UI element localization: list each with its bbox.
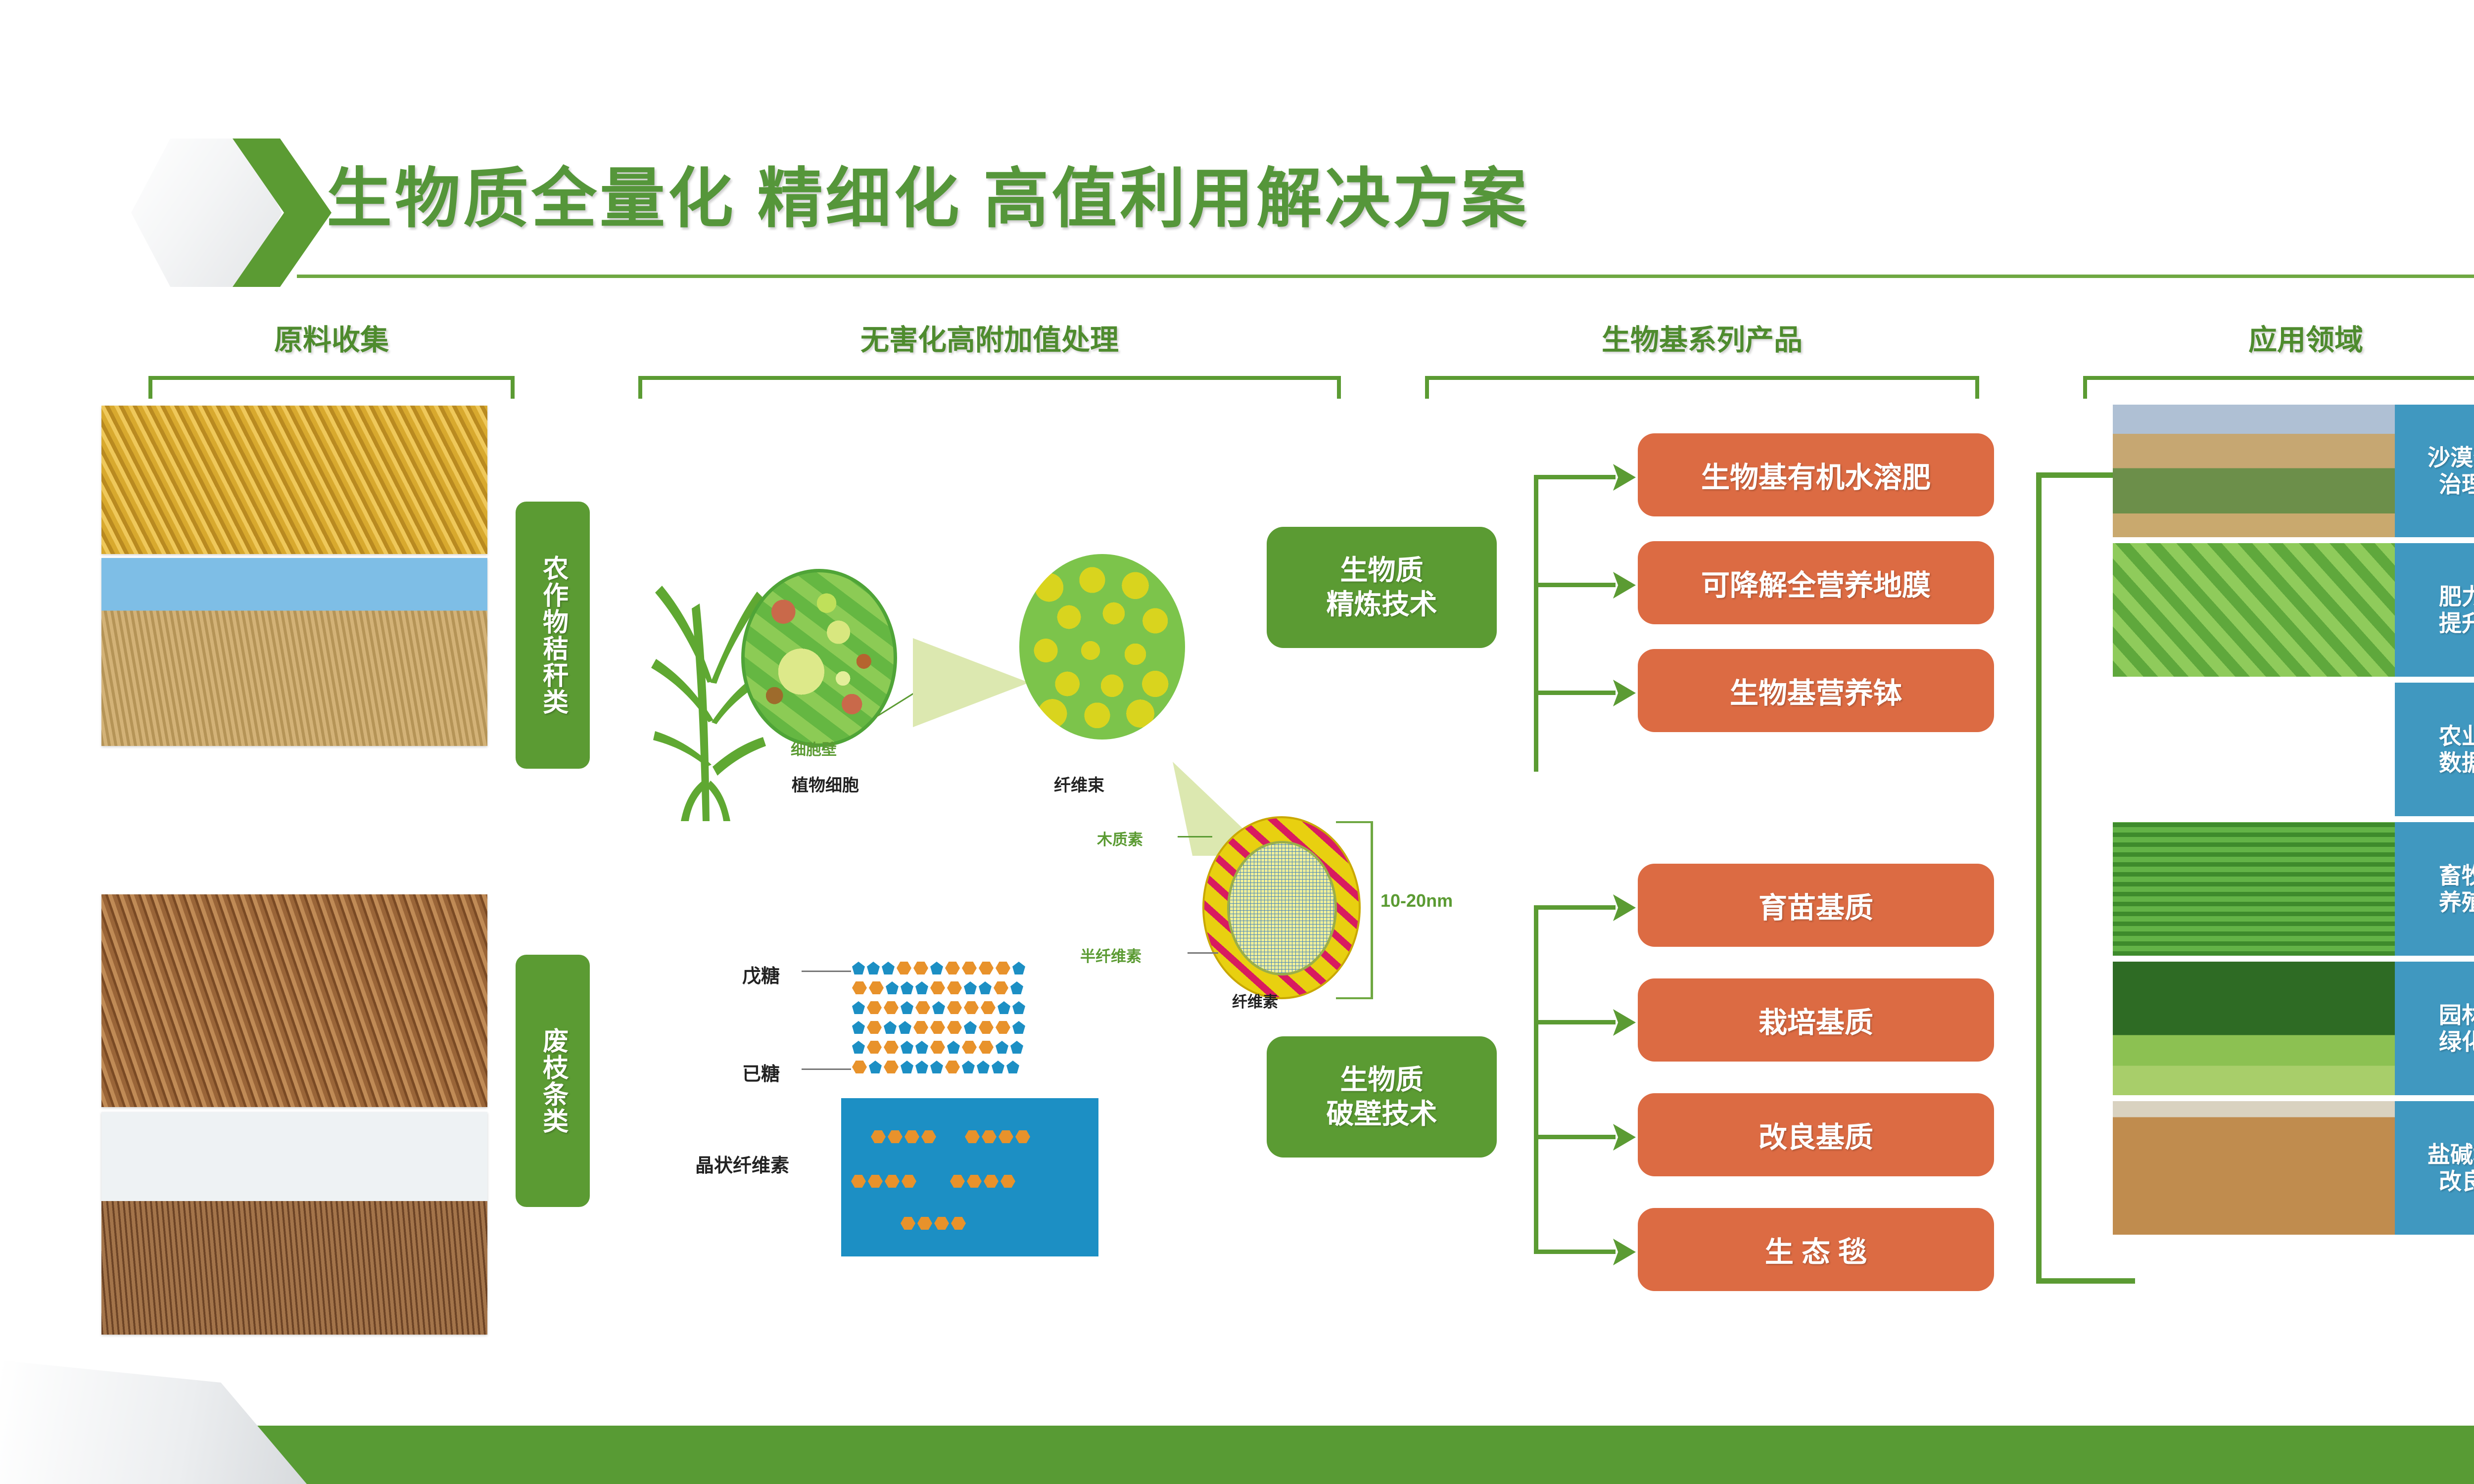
application-row-saline-alkali[interactable]: 盐碱地 改良 (2113, 1101, 2474, 1235)
dimension-tick-top (1336, 821, 1373, 823)
connector-refining-branch-1 (1534, 475, 1616, 479)
label-cell-wall: 细胞壁 (791, 737, 837, 759)
footer-bar (0, 1426, 2474, 1484)
app-label-line1: 沙漠化 (2427, 444, 2474, 471)
photo-baled-straw (101, 558, 487, 746)
plant-cell-illustration (741, 569, 897, 747)
photo-data-control-room (2113, 683, 2395, 816)
application-row-fertility[interactable]: 肥力 提升 (2113, 543, 2474, 677)
label-hexose: 已糖 (742, 1059, 780, 1086)
zoom-cone-2-icon (913, 638, 1029, 727)
connector-cellbreak-branch-1 (1534, 905, 1616, 910)
product-box-improvement-substrate[interactable]: 改良基质 (1638, 1093, 1994, 1176)
dimension-line-vertical (1371, 821, 1373, 999)
tech-box-cellbreak[interactable]: 生物质 破壁技术 (1267, 1036, 1497, 1158)
arrow-cellbreak-1-icon (1613, 894, 1636, 921)
sugar-chain-row (852, 962, 1025, 974)
photo-sheep-grazing (2113, 822, 2395, 956)
application-row-livestock[interactable]: 畜牧 养殖 (2113, 822, 2474, 956)
sugar-chain-row (852, 1041, 1023, 1054)
connector-refining-spine (1534, 475, 1538, 772)
hexose-leader-line (802, 1068, 851, 1070)
app-label-line2: 改良 (2427, 1168, 2474, 1195)
section-bracket-applications (2083, 376, 2474, 399)
arrow-refining-3-icon (1613, 680, 1636, 706)
application-label-desertification: 沙漠化 治理 (2395, 405, 2474, 537)
fiber-bundle-illustration (1019, 554, 1185, 740)
application-label-agri-data: 农业 数据 (2395, 683, 2474, 816)
app-label-line2: 治理 (2427, 471, 2474, 498)
lignin-leader-line (1178, 836, 1212, 837)
label-fiber-bundle: 纤维束 (1054, 772, 1104, 796)
connector-cellbreak-branch-3 (1534, 1135, 1616, 1139)
app-label-line2: 养殖 (2439, 889, 2474, 916)
section-bracket-products (1425, 376, 1979, 399)
application-label-landscaping: 园林 绿化 (2395, 962, 2474, 1095)
tech-box-line2: 破壁技术 (1327, 1097, 1437, 1131)
label-pentose: 戊糖 (742, 961, 780, 988)
app-label-line1: 畜牧 (2439, 862, 2474, 889)
arrow-refining-1-icon (1613, 464, 1636, 491)
photo-corn-straw (101, 406, 487, 554)
photo-park-trees (2113, 962, 2395, 1095)
application-label-livestock: 畜牧 养殖 (2395, 822, 2474, 956)
photo-cabbage-field (2113, 543, 2395, 677)
label-crystalline-cellulose: 晶状纤维素 (695, 1150, 789, 1177)
feedstock-tag-label: 农作物秸秆类 (539, 555, 566, 715)
tech-box-line1: 生物质 (1327, 1063, 1437, 1097)
sugar-chain-row (852, 1001, 1025, 1014)
section-header-collection: 原料收集 (148, 317, 515, 358)
section-header-products: 生物基系列产品 (1425, 317, 1979, 358)
section-bracket-processing (638, 376, 1341, 399)
hemicellulose-leader-line (1188, 952, 1218, 954)
arrow-refining-2-icon (1613, 572, 1636, 599)
arrow-cellbreak-4-icon (1613, 1239, 1636, 1265)
label-cellulose: 纤维素 (1232, 989, 1278, 1012)
tech-box-refining[interactable]: 生物质 精炼技术 (1267, 527, 1497, 648)
product-box-water-soluble-fertilizer[interactable]: 生物基有机水溶肥 (1638, 433, 1994, 516)
sugar-chain-row (852, 1021, 1025, 1034)
crystalline-cellulose-illustration (841, 1098, 1098, 1256)
application-row-landscaping[interactable]: 园林 绿化 (2113, 962, 2474, 1095)
label-dimension: 10-20nm (1380, 890, 1453, 911)
connector-refining-branch-3 (1534, 691, 1616, 695)
tech-box-line2: 精炼技术 (1327, 588, 1437, 621)
product-box-cultivation-substrate[interactable]: 栽培基质 (1638, 978, 1994, 1062)
photo-saline-alkali-soil (2113, 1101, 2395, 1235)
label-lignin: 木质素 (1097, 827, 1143, 849)
pentose-leader-line (802, 971, 851, 972)
connector-cellbreak-branch-2 (1534, 1020, 1616, 1024)
app-label-line1: 园林 (2439, 1002, 2474, 1028)
connector-cellbreak-branch-4 (1534, 1250, 1616, 1254)
sugar-chain-row (852, 981, 1023, 994)
application-label-saline-alkali: 盐碱地 改良 (2395, 1101, 2474, 1235)
tech-box-line1: 生物质 (1327, 554, 1437, 587)
label-plant-cell: 植物细胞 (792, 772, 859, 796)
photo-desert-control (2113, 405, 2395, 537)
product-box-seedling-substrate[interactable]: 育苗基质 (1638, 864, 1994, 947)
application-row-agri-data[interactable]: 农业 数据 (2113, 683, 2474, 816)
application-label-fertility: 肥力 提升 (2395, 543, 2474, 677)
product-box-degradable-mulch-film[interactable]: 可降解全营养地膜 (1638, 541, 1994, 624)
app-label-line1: 农业 (2439, 723, 2474, 749)
page-title: 生物质全量化 精细化 高值利用解决方案 (327, 146, 1529, 240)
app-label-line2: 绿化 (2439, 1028, 2474, 1055)
title-divider (297, 275, 2474, 278)
feedstock-tag-crop-straw: 农作物秸秆类 (516, 502, 590, 769)
arrow-cellbreak-2-icon (1613, 1009, 1636, 1036)
photo-pruned-branches (101, 894, 487, 1107)
feedstock-tag-waste-branches: 废枝条类 (516, 955, 590, 1207)
sugar-chain-row (852, 1061, 1019, 1073)
section-header-applications: 应用领域 (2083, 317, 2474, 358)
app-label-line2: 提升 (2439, 610, 2474, 637)
cellulose-core-illustration (1227, 841, 1337, 975)
title-bar: 生物质全量化 精细化 高值利用解决方案 (0, 59, 2474, 257)
section-header-processing: 无害化高附加值处理 (638, 317, 1341, 358)
app-label-line1: 盐碱地 (2427, 1141, 2474, 1168)
dimension-tick-bottom (1336, 997, 1373, 999)
footer-wedge-decoration (0, 1360, 307, 1484)
feedstock-tag-label: 废枝条类 (539, 1027, 566, 1134)
connector-cellbreak-spine (1534, 905, 1538, 1252)
arrow-cellbreak-3-icon (1613, 1124, 1636, 1151)
app-label-line1: 肥力 (2439, 583, 2474, 610)
product-box-nutrient-pot[interactable]: 生物基营养钵 (1638, 649, 1994, 732)
app-label-line2: 数据 (2439, 749, 2474, 776)
connector-refining-branch-2 (1534, 583, 1616, 587)
section-bracket-collection (148, 376, 515, 399)
product-box-ecological-blanket[interactable]: 生 态 毯 (1638, 1208, 1994, 1291)
application-row-desertification[interactable]: 沙漠化 治理 (2113, 405, 2474, 537)
photo-orchard-collection (101, 1112, 487, 1335)
label-hemicellulose: 半纤维素 (1080, 944, 1142, 966)
